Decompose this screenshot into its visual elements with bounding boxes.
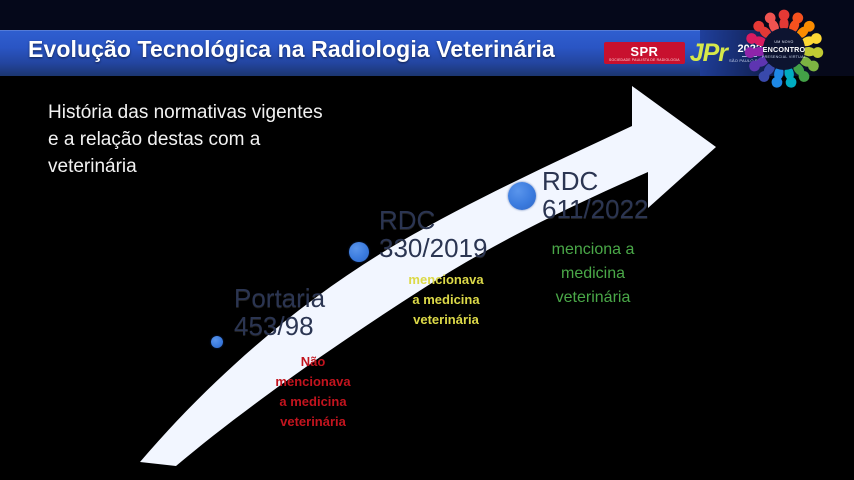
milestone-dot-rdc-330 [349, 242, 369, 262]
milestone-note-portaria-453: Não mencionava a medicina veterinária [256, 352, 370, 433]
slide-canvas: Evolução Tecnológica na Radiologia Veter… [0, 0, 854, 480]
milestone-title-rdc-611: RDC 611/2022 [542, 168, 649, 223]
milestone-title-portaria-453: Portaria 453/98 [234, 285, 325, 340]
milestone-note-rdc-330: mencionava a medicina veterinária [390, 270, 502, 330]
milestone-title-rdc-330: RDC 330/2019 [379, 207, 487, 262]
milestone-note-rdc-611: menciona a medicina veterinária [528, 238, 658, 310]
milestone-dot-portaria-453 [211, 336, 223, 348]
milestone-dot-rdc-611 [508, 182, 536, 210]
